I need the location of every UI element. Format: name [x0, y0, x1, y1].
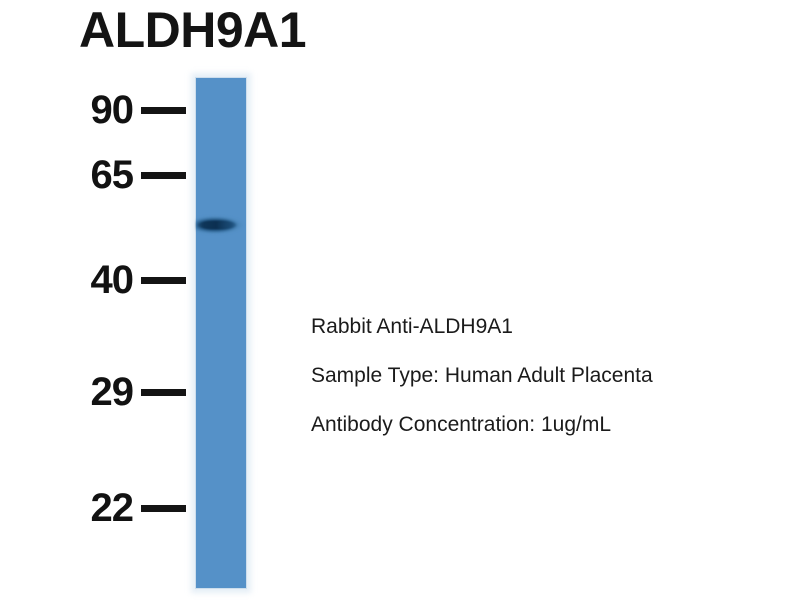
mw-marker-dash-icon — [141, 107, 186, 114]
mw-marker-label: 65 — [91, 155, 134, 195]
molecular-weight-ladder: 90 65 40 29 22 — [0, 0, 196, 600]
mw-marker-90: 90 — [0, 88, 186, 132]
mw-marker-label: 90 — [91, 90, 134, 130]
mw-marker-dash-icon — [141, 277, 186, 284]
annotation-sample-type: Sample Type: Human Adult Placenta — [311, 363, 701, 388]
mw-marker-40: 40 — [0, 258, 186, 302]
mw-marker-29: 29 — [0, 370, 186, 414]
western-blot-figure: ALDH9A1 90 65 40 29 22 Rabbi — [0, 0, 800, 600]
lane-membrane — [196, 78, 246, 588]
mw-marker-dash-icon — [141, 172, 186, 179]
annotation-antibody: Rabbit Anti-ALDH9A1 — [311, 314, 701, 339]
annotation-block: Rabbit Anti-ALDH9A1 Sample Type: Human A… — [311, 314, 761, 437]
blot-lane — [194, 76, 248, 590]
mw-marker-dash-icon — [141, 389, 186, 396]
annotation-concentration: Antibody Concentration: 1ug/mL — [311, 412, 751, 437]
mw-marker-label: 22 — [91, 488, 134, 528]
mw-marker-label: 29 — [91, 372, 134, 412]
mw-marker-dash-icon — [141, 505, 186, 512]
protein-band-core — [198, 221, 236, 229]
mw-marker-label: 40 — [91, 260, 134, 300]
mw-marker-65: 65 — [0, 153, 186, 197]
mw-marker-22: 22 — [0, 486, 186, 530]
